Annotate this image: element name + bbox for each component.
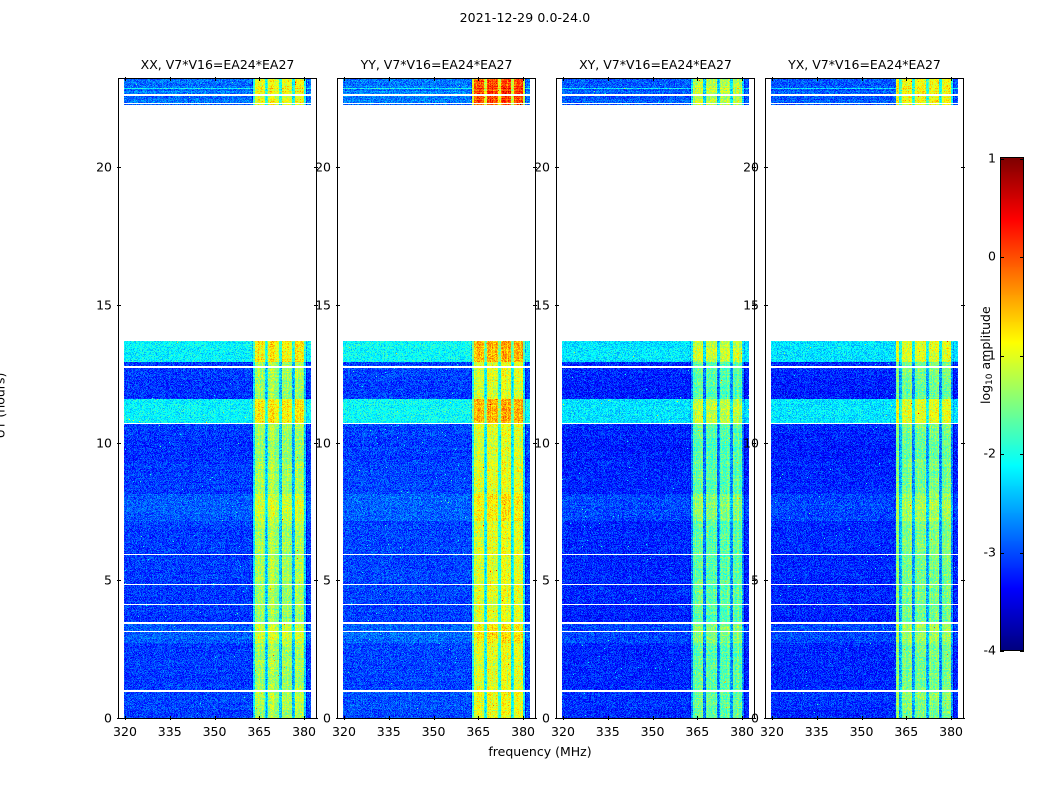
y-tick-mark [555, 718, 559, 719]
x-tick-label: 365 [466, 724, 490, 739]
y-tick-mark [117, 580, 121, 581]
y-tick-mark [555, 443, 559, 444]
y-tick-mark [336, 718, 340, 719]
y-tick-label: 20 [735, 160, 759, 175]
colorbar-gradient [1001, 158, 1023, 650]
panel-title-yy: YY, V7*V16=EA24*EA27 [317, 57, 556, 72]
colorbar-label: log10 amplitude [978, 306, 995, 404]
y-tick-label: 15 [307, 297, 331, 312]
y-tick-mark [555, 580, 559, 581]
spectrogram-panel-yx: YX, V7*V16=EA24*EA27 [765, 78, 964, 719]
y-tick-mark-right [961, 443, 965, 444]
x-tick-mark-top [434, 77, 435, 81]
x-tick-label: 380 [511, 724, 535, 739]
x-tick-label: 335 [158, 724, 182, 739]
y-tick-mark [336, 167, 340, 168]
x-tick-label: 365 [247, 724, 271, 739]
x-tick-mark [563, 716, 564, 720]
y-tick-label: 0 [526, 711, 550, 726]
y-tick-label: 20 [307, 160, 331, 175]
y-tick-label: 15 [88, 297, 112, 312]
y-tick-mark [117, 443, 121, 444]
x-tick-mark [170, 716, 171, 720]
colorbar-tick-label: -4 [984, 643, 996, 658]
x-tick-label: 350 [641, 724, 665, 739]
x-tick-mark-top [772, 77, 773, 81]
y-tick-mark [764, 718, 768, 719]
y-tick-label: 10 [307, 435, 331, 450]
x-tick-mark-top [742, 77, 743, 81]
x-tick-mark-top [170, 77, 171, 81]
y-tick-label: 5 [307, 573, 331, 588]
x-tick-mark-top [259, 77, 260, 81]
x-axis-label: frequency (MHz) [118, 744, 962, 759]
x-tick-mark-top [344, 77, 345, 81]
colorbar-tick-mark [1000, 159, 1004, 160]
x-tick-mark [304, 716, 305, 720]
colorbar-tick-mark-right [1020, 651, 1024, 652]
x-tick-mark-top [817, 77, 818, 81]
x-tick-label: 350 [203, 724, 227, 739]
y-tick-label: 15 [526, 297, 550, 312]
x-tick-mark-top [697, 77, 698, 81]
y-tick-mark [336, 580, 340, 581]
x-tick-mark-top [608, 77, 609, 81]
y-tick-mark-right [961, 580, 965, 581]
x-tick-mark [523, 716, 524, 720]
y-tick-label: 5 [526, 573, 550, 588]
y-tick-mark-right [961, 305, 965, 306]
x-tick-label: 350 [850, 724, 874, 739]
x-tick-mark-top [478, 77, 479, 81]
y-tick-mark [555, 305, 559, 306]
figure-suptitle: 2021-12-29 0.0-24.0 [0, 10, 1050, 25]
y-tick-mark [117, 167, 121, 168]
x-tick-label: 320 [760, 724, 784, 739]
y-tick-mark [764, 305, 768, 306]
panel-title-xx: XX, V7*V16=EA24*EA27 [98, 57, 337, 72]
y-tick-label: 5 [735, 573, 759, 588]
y-tick-label: 10 [735, 435, 759, 450]
y-tick-label: 0 [307, 711, 331, 726]
x-tick-mark-top [653, 77, 654, 81]
x-tick-mark [434, 716, 435, 720]
colorbar-tick-mark-right [1020, 257, 1024, 258]
colorbar-tick-mark-right [1020, 159, 1024, 160]
x-tick-mark-top [906, 77, 907, 81]
x-tick-label: 365 [894, 724, 918, 739]
x-tick-mark [906, 716, 907, 720]
x-tick-label: 320 [551, 724, 575, 739]
colorbar-tick-mark [1000, 257, 1004, 258]
panel-title-xy: XY, V7*V16=EA24*EA27 [536, 57, 775, 72]
x-tick-mark-top [304, 77, 305, 81]
x-tick-label: 365 [685, 724, 709, 739]
x-tick-mark [389, 716, 390, 720]
x-tick-mark [259, 716, 260, 720]
x-tick-mark-top [862, 77, 863, 81]
spectrogram-panel-xy: XY, V7*V16=EA24*EA27 [556, 78, 755, 719]
y-tick-label: 5 [88, 573, 112, 588]
x-tick-mark-top [523, 77, 524, 81]
colorbar-tick-label: 1 [988, 151, 996, 166]
x-tick-mark-top [125, 77, 126, 81]
y-tick-mark-right [961, 167, 965, 168]
x-tick-mark-top [215, 77, 216, 81]
x-tick-mark [125, 716, 126, 720]
spectrogram-image-yx [766, 79, 963, 718]
x-tick-mark [344, 716, 345, 720]
y-tick-mark [764, 167, 768, 168]
x-tick-label: 380 [292, 724, 316, 739]
colorbar-tick-mark [1000, 356, 1004, 357]
x-tick-mark [951, 716, 952, 720]
colorbar-tick-label: 0 [988, 249, 996, 264]
y-tick-label: 10 [526, 435, 550, 450]
y-tick-mark [764, 580, 768, 581]
x-tick-mark [862, 716, 863, 720]
x-tick-label: 335 [805, 724, 829, 739]
x-tick-label: 335 [377, 724, 401, 739]
x-tick-mark [697, 716, 698, 720]
spectrogram-image-xy [557, 79, 754, 718]
x-tick-label: 380 [730, 724, 754, 739]
colorbar-tick-mark-right [1020, 356, 1024, 357]
colorbar [1000, 157, 1024, 651]
x-tick-mark [772, 716, 773, 720]
y-tick-label: 10 [88, 435, 112, 450]
x-tick-mark [608, 716, 609, 720]
y-tick-label: 15 [735, 297, 759, 312]
x-tick-mark [653, 716, 654, 720]
x-tick-mark-top [563, 77, 564, 81]
y-tick-label: 20 [526, 160, 550, 175]
x-tick-label: 380 [939, 724, 963, 739]
x-tick-label: 335 [596, 724, 620, 739]
y-tick-mark [555, 167, 559, 168]
y-tick-label: 20 [88, 160, 112, 175]
spectrogram-panel-xx: XX, V7*V16=EA24*EA27 [118, 78, 317, 719]
y-tick-mark [336, 305, 340, 306]
spectrogram-image-xx [119, 79, 316, 718]
panel-title-yx: YX, V7*V16=EA24*EA27 [745, 57, 984, 72]
x-tick-mark [215, 716, 216, 720]
x-tick-mark-top [951, 77, 952, 81]
y-tick-mark [117, 305, 121, 306]
colorbar-tick-mark [1000, 651, 1004, 652]
y-tick-label: 0 [88, 711, 112, 726]
y-tick-label: 0 [735, 711, 759, 726]
spectrogram-panel-yy: YY, V7*V16=EA24*EA27 [337, 78, 536, 719]
x-tick-label: 350 [422, 724, 446, 739]
x-tick-mark-top [389, 77, 390, 81]
spectrogram-image-yy [338, 79, 535, 718]
colorbar-tick-mark [1000, 454, 1004, 455]
y-tick-mark [117, 718, 121, 719]
colorbar-tick-mark-right [1020, 553, 1024, 554]
x-tick-label: 320 [332, 724, 356, 739]
figure-canvas-root: 2021-12-29 0.0-24.0 UT (hours) frequency… [0, 0, 1050, 800]
colorbar-tick-label: -3 [984, 544, 996, 559]
colorbar-tick-mark [1000, 553, 1004, 554]
colorbar-tick-label: -2 [984, 446, 996, 461]
x-tick-mark [478, 716, 479, 720]
y-tick-mark [336, 443, 340, 444]
y-tick-mark-right [961, 718, 965, 719]
y-tick-mark [764, 443, 768, 444]
x-tick-label: 320 [113, 724, 137, 739]
colorbar-tick-mark-right [1020, 454, 1024, 455]
x-tick-mark [817, 716, 818, 720]
